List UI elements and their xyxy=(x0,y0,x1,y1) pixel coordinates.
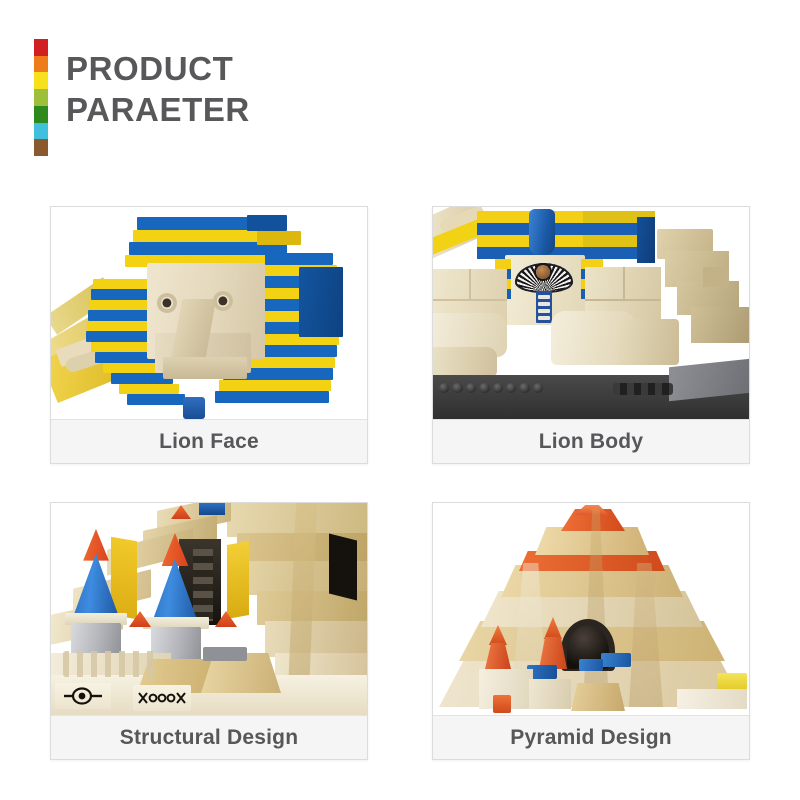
foreground-step xyxy=(571,683,625,711)
lion-face-image xyxy=(51,207,367,419)
swatch-band-cyan xyxy=(34,123,48,140)
sphinx-chin xyxy=(163,357,247,379)
brick-seam xyxy=(469,269,471,299)
stripe-blue xyxy=(88,310,156,321)
stripe-yellow xyxy=(93,279,151,289)
eye-of-horus-icon xyxy=(60,687,106,705)
stripe-yellow xyxy=(257,231,301,245)
feature-row-bottom: Structural Design xyxy=(50,502,750,760)
sphinx-eye-left xyxy=(157,293,177,313)
paw-right-outer xyxy=(617,319,679,365)
caption-text: Lion Face xyxy=(159,430,259,454)
sphinx-eye-right xyxy=(213,291,233,311)
collar-pendant xyxy=(536,291,552,323)
accent-panel xyxy=(227,541,249,619)
bead-pattern-icon xyxy=(137,690,187,706)
obelisk-center xyxy=(151,533,199,625)
base-plate-studs xyxy=(439,383,543,393)
interior-shaft-right xyxy=(329,534,357,601)
caption-bar: Lion Face xyxy=(51,419,367,463)
swatch-band-green xyxy=(34,106,48,123)
caption-text: Pyramid Design xyxy=(510,726,672,750)
stripe-blue-side xyxy=(637,217,655,263)
stripe-blue xyxy=(265,253,333,265)
swatch-band-brown xyxy=(34,139,48,156)
swatch-band-orange xyxy=(34,56,48,73)
stripe-blue-side xyxy=(299,267,343,337)
stripe-blue xyxy=(477,223,637,235)
lion-body-image xyxy=(433,207,749,419)
stripe-yellow xyxy=(495,259,511,269)
stone-block xyxy=(703,267,729,287)
feature-card-lion-body[interactable]: Lion Body xyxy=(432,206,750,464)
base-plate-studs-right xyxy=(613,383,673,395)
foreground-orange-brick xyxy=(493,695,511,713)
caption-bar: Lion Body xyxy=(433,419,749,463)
obelisk-cone-left xyxy=(73,554,119,617)
stripe-yellow xyxy=(219,380,331,391)
blue-brick-center xyxy=(579,659,603,671)
cone-center xyxy=(539,617,567,669)
obelisk-left xyxy=(73,529,119,617)
swatch-band-red xyxy=(34,39,48,56)
feature-card-pyramid-design[interactable]: Pyramid Design xyxy=(432,502,750,760)
collar-medallion xyxy=(536,265,550,279)
obelisk-cone-center xyxy=(151,559,199,625)
caption-bar: Structural Design xyxy=(51,715,367,759)
brick-seam xyxy=(623,267,625,299)
page-title-line-1: PRODUCT xyxy=(66,48,586,89)
beard-brick xyxy=(183,397,205,419)
swatch-band-yellow xyxy=(34,72,48,89)
product-feature-grid: Lion Face xyxy=(50,206,750,798)
stripe-blue xyxy=(127,394,185,405)
glyph-tile-eye xyxy=(55,683,111,709)
swatch-band-yellow-green xyxy=(34,89,48,106)
page-title: PRODUCT PARAETER xyxy=(66,48,586,130)
caption-bar: Pyramid Design xyxy=(433,715,749,759)
page-title-line-2: PARAETER xyxy=(66,89,586,130)
color-swatch-strip xyxy=(34,39,48,156)
gray-tile xyxy=(203,647,247,661)
glyph-tile-beads xyxy=(133,685,191,711)
neck-cylinder xyxy=(529,209,555,255)
structural-design-image xyxy=(51,503,367,715)
blue-brick-right xyxy=(601,653,631,667)
pyramid-design-image xyxy=(433,503,749,715)
brick-seam xyxy=(585,299,661,301)
stripe-blue xyxy=(215,391,329,403)
paw-left-lower xyxy=(433,347,497,377)
top-blue-brick xyxy=(199,503,225,515)
stone-block xyxy=(691,307,749,343)
feature-card-structural-design[interactable]: Structural Design xyxy=(50,502,368,760)
cone-left xyxy=(485,625,511,669)
stripe-blue xyxy=(247,215,287,231)
stripe-yellow xyxy=(89,300,155,310)
plaza-studs xyxy=(63,651,159,677)
brick-seam xyxy=(433,299,507,301)
feature-card-lion-face[interactable]: Lion Face xyxy=(50,206,368,464)
feature-row-top: Lion Face xyxy=(50,206,750,464)
stripe-blue xyxy=(91,289,153,300)
caption-text: Lion Body xyxy=(539,430,643,454)
foreground-block-right xyxy=(677,689,747,709)
page-header: PRODUCT PARAETER xyxy=(0,0,800,190)
foreground-block-center xyxy=(529,679,571,709)
pyramid-step xyxy=(265,621,367,657)
stripe-yellow xyxy=(119,384,179,394)
caption-text: Structural Design xyxy=(120,726,298,750)
